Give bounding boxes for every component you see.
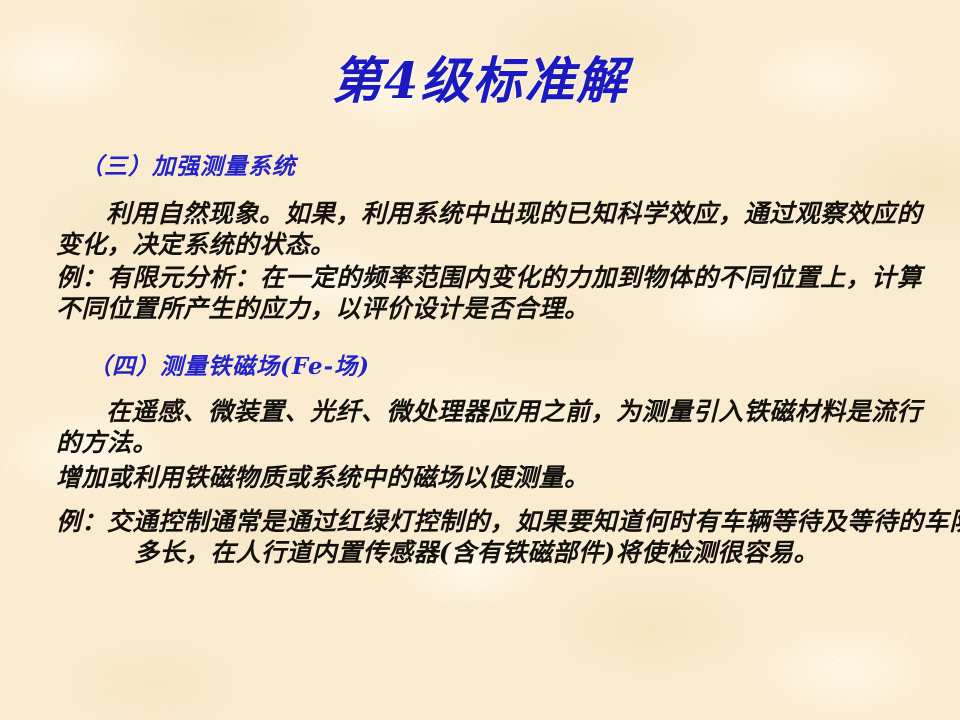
paragraph-increase-field: 增加或利用铁磁物质或系统中的磁场以便测量。 — [56, 462, 922, 493]
section-heading-three: （三）加强测量系统 — [80, 152, 296, 182]
paragraph-ferromagnetic-intro: 在遥感、微装置、光纤、微处理器应用之前，为测量引入铁磁材料是流行的方法。 — [56, 396, 922, 458]
slide-content: 第4级标准解 （三）加强测量系统 利用自然现象。如果，利用系统中出现的已知科学效… — [0, 0, 960, 720]
slide-title: 第4级标准解 — [0, 52, 960, 110]
section-heading-four: （四）测量铁磁场(Fe-场) — [88, 352, 370, 382]
paragraph-example-finite-element: 例：有限元分析：在一定的频率范围内变化的力加到物体的不同位置上，计算不同位置所产… — [56, 262, 922, 324]
paragraph-natural-phenomenon: 利用自然现象。如果，利用系统中出现的已知科学效应，通过观察效应的变化，决定系统的… — [56, 198, 922, 260]
paragraph-example-traffic-control: 例：交通控制通常是通过红绿灯控制的，如果要知道何时有车辆等待及等待的车队有多长，… — [56, 506, 960, 568]
presentation-slide: 第4级标准解 （三）加强测量系统 利用自然现象。如果，利用系统中出现的已知科学效… — [0, 0, 960, 720]
